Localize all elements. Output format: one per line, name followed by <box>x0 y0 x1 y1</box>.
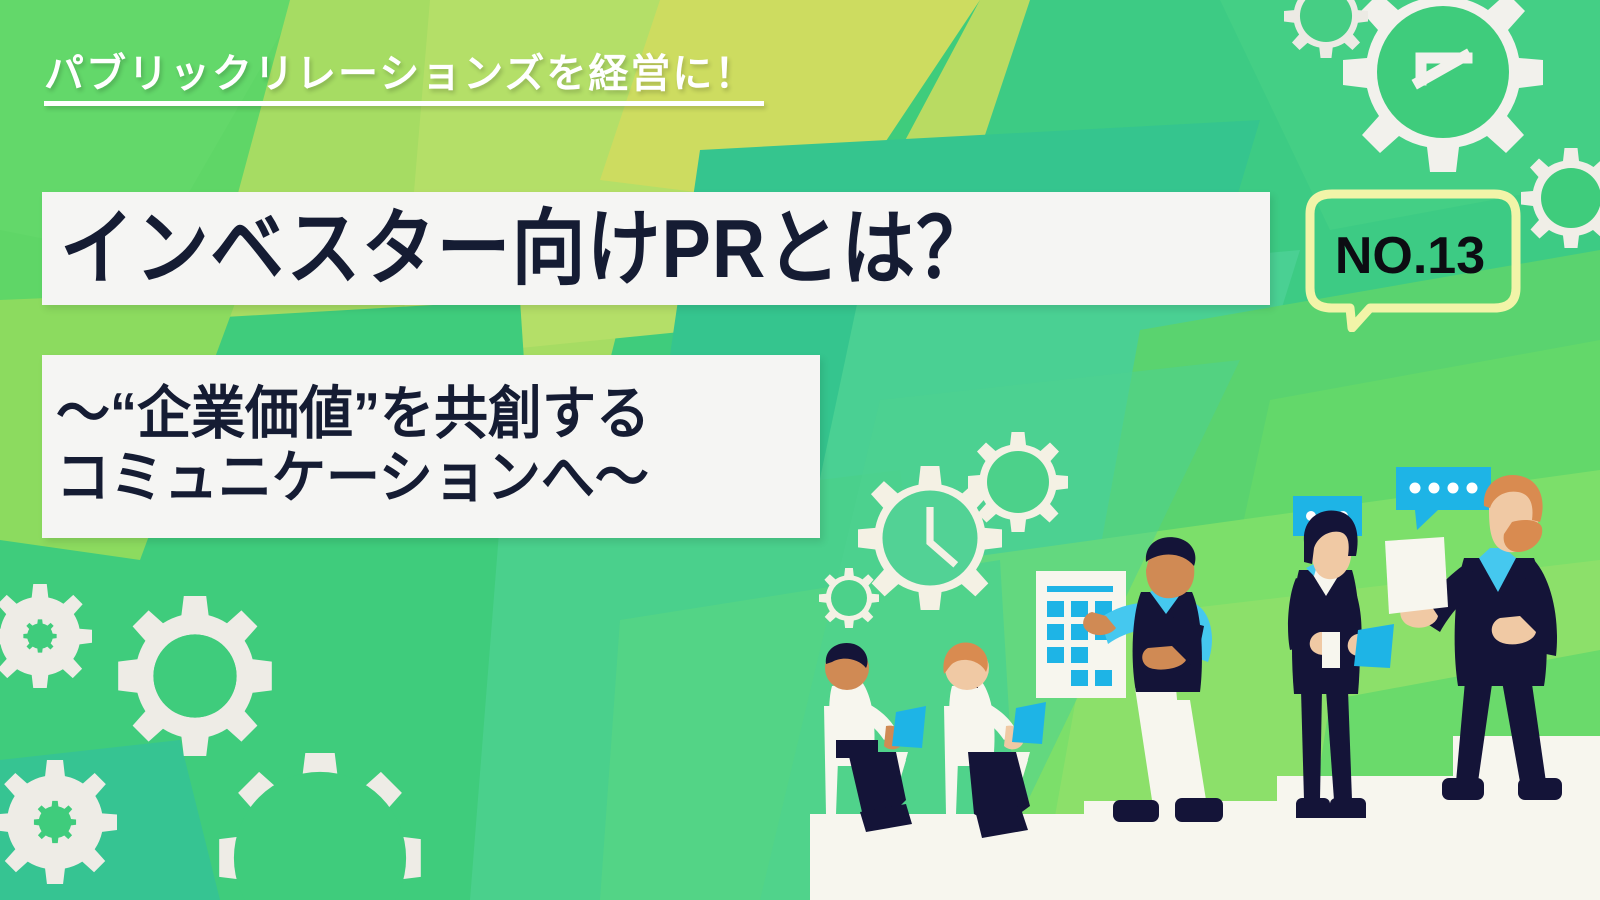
issue-number-badge: NO.13 <box>1294 184 1526 332</box>
kicker-text: パブリックリレーションズを経営に！ <box>44 52 756 106</box>
text-layer: パブリックリレーションズを経営に！ インベスター向けPRとは？ 〜“企業価値”を… <box>0 0 1600 900</box>
issue-number-label: NO.13 <box>1294 184 1526 332</box>
title-panel: インベスター向けPRとは？ <box>42 192 1270 305</box>
subtitle-line-1: 〜“企業価値”を共創する <box>56 381 820 449</box>
kicker-label: パブリックリレーションズを経営に！ <box>44 52 756 96</box>
page-title: インベスター向けPRとは？ <box>60 207 991 290</box>
subtitle-line-2: コミュニケーションへ〜 <box>56 445 820 513</box>
banner-canvas: パブリックリレーションズを経営に！ インベスター向けPRとは？ 〜“企業価値”を… <box>0 0 1600 900</box>
kicker-underline <box>44 101 764 106</box>
subtitle-panel: 〜“企業価値”を共創する コミュニケーションへ〜 <box>42 355 820 538</box>
